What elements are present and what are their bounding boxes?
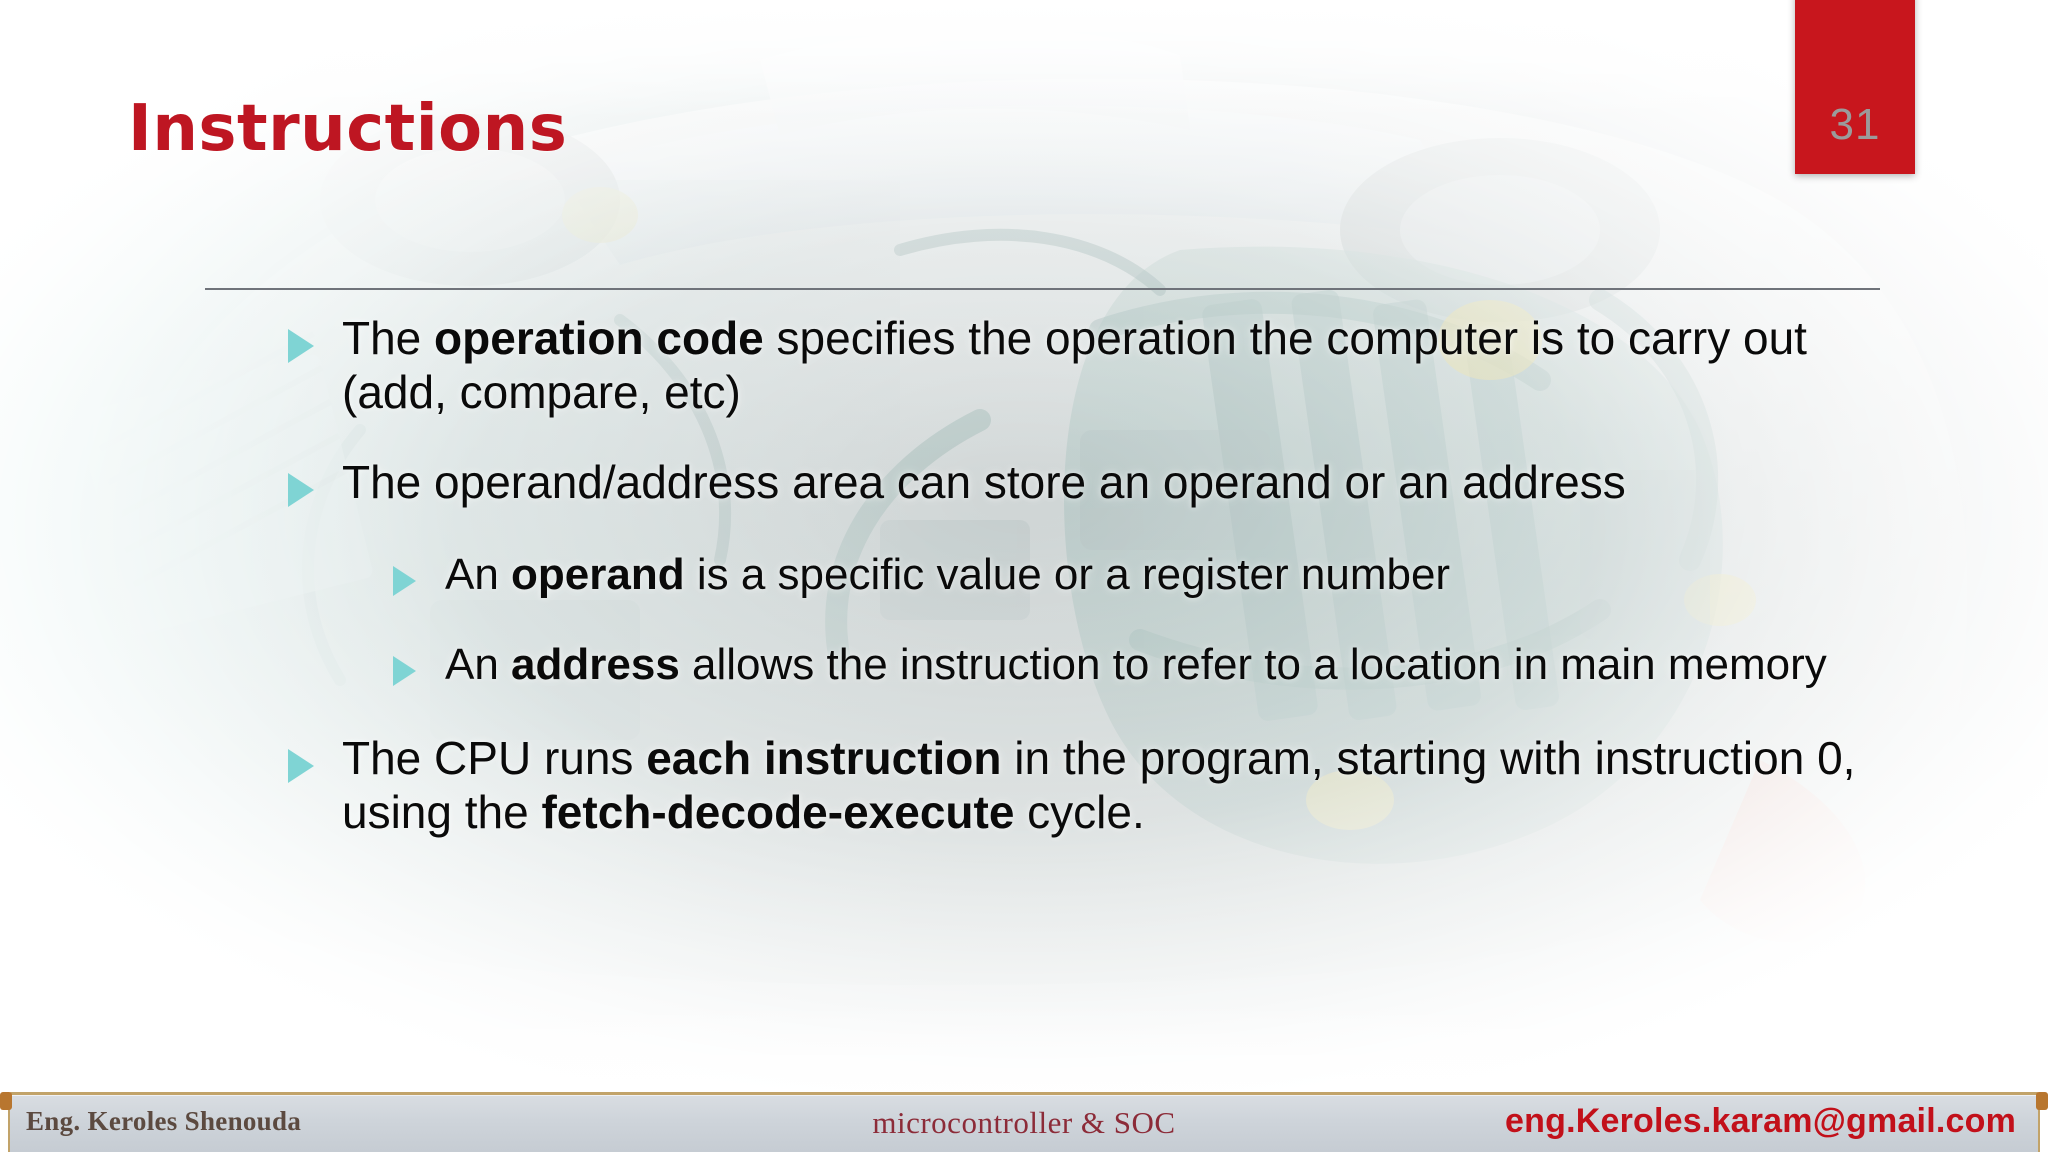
bullet-text: The operand/address area can store an op… — [342, 456, 1870, 510]
bullet-segment: An — [445, 550, 511, 599]
page-title: Instructions — [128, 92, 567, 166]
page-number-badge: 31 — [1795, 0, 1915, 174]
page-number: 31 — [1795, 100, 1915, 150]
bullet-address-definition: An address allows the instruction to ref… — [270, 639, 1870, 690]
bullet-operation-code: The operation code specifies the operati… — [270, 312, 1870, 420]
bullet-triangle-icon — [393, 566, 416, 596]
bullet-segment: allows the instruction to refer to a loc… — [680, 640, 1827, 689]
bullet-text: An address allows the instruction to ref… — [445, 639, 1870, 690]
bullet-segment-bold: operand — [511, 550, 685, 599]
bullet-segment: An — [445, 640, 511, 689]
bullet-cpu-runs: The CPU runs each instruction in the pro… — [270, 732, 1870, 840]
bullet-triangle-icon — [393, 656, 416, 686]
bullet-segment: The operand/address area can store an op… — [342, 456, 1626, 508]
bullet-segment-bold: address — [511, 640, 680, 689]
bullet-segment: cycle. — [1014, 786, 1144, 838]
bullet-triangle-icon — [288, 473, 314, 507]
footer-email: eng.Keroles.karam@gmail.com — [1505, 1102, 2016, 1141]
bullet-text: The operation code specifies the operati… — [342, 312, 1870, 420]
bullet-segment-bold: each instruction — [646, 732, 1001, 784]
bullet-text: The CPU runs each instruction in the pro… — [342, 732, 1870, 840]
bullet-text: An operand is a specific value or a regi… — [445, 549, 1870, 600]
slide-footer: Eng. Keroles Shenouda microcontroller & … — [0, 1088, 2048, 1152]
bullet-triangle-icon — [288, 749, 314, 783]
title-divider — [205, 288, 1880, 290]
presentation-slide: 31 Instructions The operation code speci… — [0, 0, 2048, 1152]
bullet-segment-bold: operation code — [434, 312, 764, 364]
bullet-operand-address-area: The operand/address area can store an op… — [270, 456, 1870, 510]
bullet-operand-definition: An operand is a specific value or a regi… — [270, 549, 1870, 600]
bullet-segment: The CPU runs — [342, 732, 646, 784]
bullet-triangle-icon — [288, 329, 314, 363]
bullet-segment: The — [342, 312, 434, 364]
bullet-segment: is a specific value or a register number — [685, 550, 1450, 599]
bullet-segment-bold: fetch-decode-execute — [541, 786, 1014, 838]
bullet-list: The operation code specifies the operati… — [270, 312, 1870, 870]
